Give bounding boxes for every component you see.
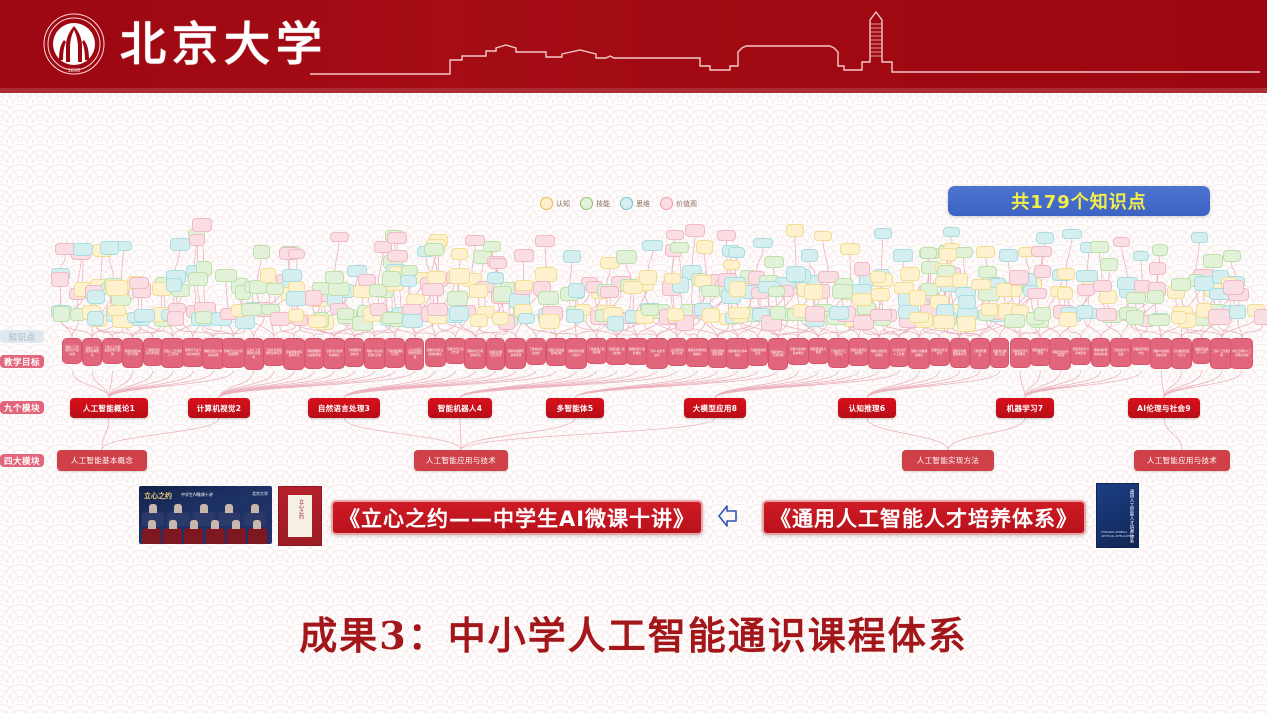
knowledge-point-node[interactable] bbox=[266, 283, 284, 295]
knowledge-point-node[interactable] bbox=[909, 290, 926, 306]
poster-logo: 北京大学 bbox=[252, 491, 268, 497]
module-box-6[interactable]: 大模型应用8 bbox=[684, 398, 746, 418]
knowledge-point-node[interactable] bbox=[1147, 290, 1164, 304]
teaching-goal-node[interactable]: 理解博弈论基本概念 bbox=[726, 338, 749, 369]
teaching-goal-node[interactable]: 了解提示词工程方法 bbox=[828, 338, 849, 368]
teaching-goal-node[interactable]: 理解智能机器人的定义 bbox=[565, 338, 587, 369]
knowledge-point-node[interactable] bbox=[87, 290, 105, 304]
knowledge-point-node[interactable] bbox=[1027, 288, 1047, 299]
knowledge-point-node[interactable] bbox=[935, 276, 953, 287]
knowledge-point-node[interactable] bbox=[51, 272, 69, 287]
legend-item-values: 价值观 bbox=[660, 197, 697, 210]
knowledge-point-node[interactable] bbox=[667, 308, 684, 321]
poster-person-face bbox=[169, 520, 177, 529]
legend-item-cognition: 认知 bbox=[540, 197, 570, 210]
knowledge-point-node[interactable] bbox=[253, 245, 270, 259]
knowledge-point-node[interactable] bbox=[801, 249, 818, 262]
knowledge-point-node[interactable] bbox=[465, 235, 485, 246]
lixin-zhiyue-group-photo-poster: 立心之约 中学生AI微课十讲 北京大学 bbox=[139, 486, 272, 544]
teaching-goal-node[interactable]: 了解群体智能算法 bbox=[747, 338, 768, 366]
legend-dot-thinking bbox=[620, 197, 633, 210]
knowledge-point-node[interactable] bbox=[325, 271, 344, 284]
knowledge-tree-diagram: 理解人工智能的定义和内涵掌握人工智能的基本概念了解人工智能发展历程与趋势理解智能… bbox=[0, 93, 1267, 493]
module-box-1[interactable]: 人工智能概论1 bbox=[70, 398, 148, 418]
knowledge-point-node[interactable] bbox=[1203, 254, 1223, 268]
knowledge-point-node[interactable] bbox=[1223, 280, 1244, 295]
knowledge-point-node[interactable] bbox=[288, 249, 305, 259]
slide-root: 1898 北京大学 理解人工智能的定义和内涵掌握人工智能的基本概念了解人工智能发… bbox=[0, 0, 1267, 713]
knowledge-point-node[interactable] bbox=[729, 281, 746, 297]
row-label-2: 九个模块 bbox=[0, 401, 44, 414]
teaching-goal-node[interactable]: 掌握大模型应用场景 bbox=[848, 338, 869, 366]
knowledge-point-node[interactable] bbox=[514, 249, 534, 262]
knowledge-point-node[interactable] bbox=[195, 311, 212, 324]
tongyong-ai-book-cover: 通用人工智能人才培养体系 TOWARDS GENERAL ARTIFICIAL … bbox=[1096, 483, 1139, 548]
category-legend: 认知 技能 思维 价值观 bbox=[540, 197, 697, 210]
knowledge-point-node[interactable] bbox=[999, 249, 1018, 262]
big-module-box-2[interactable]: 人工智能应用与技术 bbox=[414, 450, 508, 471]
teaching-goal-node[interactable]: 理解大模型的局限性 bbox=[868, 338, 890, 369]
knowledge-point-node[interactable] bbox=[451, 248, 468, 260]
knowledge-point-node[interactable] bbox=[483, 241, 501, 252]
knowledge-point-node[interactable] bbox=[270, 312, 290, 326]
teaching-goal-node[interactable]: 掌握强化学习基本思想 bbox=[1070, 338, 1091, 365]
book-title-left: 《立心之约——中学生AI微课十讲》 bbox=[331, 500, 703, 535]
knowledge-point-node[interactable] bbox=[768, 286, 785, 297]
knowledge-point-node[interactable] bbox=[535, 235, 555, 247]
campus-skyline-lineart bbox=[310, 6, 1260, 84]
knowledge-point-node[interactable] bbox=[1223, 250, 1241, 262]
knowledge-point-node[interactable] bbox=[539, 314, 560, 329]
knowledge-point-node[interactable] bbox=[933, 315, 955, 329]
knowledge-point-node[interactable] bbox=[717, 230, 736, 241]
knowledge-point-node[interactable] bbox=[909, 312, 929, 323]
teaching-goal-node[interactable]: 理解AI伦理的基本原则 bbox=[1150, 338, 1172, 369]
teaching-goal-node[interactable]: 掌握分词与词法分析 bbox=[445, 338, 466, 364]
knowledge-point-node[interactable] bbox=[568, 283, 585, 298]
poster-subtitle: 中学生AI微课十讲 bbox=[181, 492, 213, 498]
knowledge-point-node[interactable] bbox=[1126, 292, 1146, 304]
knowledge-point-node[interactable] bbox=[1191, 232, 1208, 243]
knowledge-point-node[interactable] bbox=[308, 315, 327, 328]
poster-person-face bbox=[225, 504, 233, 513]
knowledge-point-node[interactable] bbox=[996, 283, 1012, 297]
knowledge-point-node[interactable] bbox=[402, 314, 423, 328]
knowledge-point-node[interactable] bbox=[1057, 268, 1075, 280]
knowledge-point-node[interactable] bbox=[387, 232, 407, 244]
knowledge-point-node[interactable] bbox=[167, 311, 184, 326]
teaching-goal-node[interactable]: 理解预训练与微调 bbox=[808, 338, 829, 364]
teaching-goal-node[interactable]: 掌握大模型的基本概念 bbox=[787, 338, 809, 365]
knowledge-point-node[interactable] bbox=[664, 273, 681, 284]
teaching-goal-node[interactable]: 掌握智能体通信机制 bbox=[708, 338, 728, 368]
blue-book-subtitle: TOWARDS GENERAL ARTIFICIAL INTELLIGENCE bbox=[1101, 531, 1138, 539]
knowledge-point-node[interactable] bbox=[73, 243, 93, 256]
teaching-goal-node[interactable]: 认识数据隐私与安全 bbox=[1171, 338, 1192, 369]
knowledge-point-node[interactable] bbox=[670, 242, 689, 253]
teaching-goal-node[interactable]: 理解机器翻译基本原理 bbox=[505, 338, 526, 369]
book-title-left-text: 《立心之约——中学生AI微课十讲》 bbox=[339, 503, 695, 533]
knowledge-point-node[interactable] bbox=[600, 286, 619, 298]
teaching-goal-node[interactable]: 理解神经网络基本结构 bbox=[1091, 338, 1110, 367]
knowledge-point-node[interactable] bbox=[424, 243, 444, 256]
teaching-goal-node[interactable]: 掌握目标检测基本概念 bbox=[323, 338, 345, 369]
teaching-goal-node[interactable]: 理解认知推理的概念 bbox=[908, 338, 930, 369]
poster-person-face bbox=[211, 520, 219, 529]
knowledge-point-node[interactable] bbox=[786, 266, 806, 282]
knowledge-point-node[interactable] bbox=[1036, 232, 1054, 244]
teaching-goal-node[interactable]: 掌握机器人运动控制 bbox=[606, 338, 628, 365]
teaching-goal-node[interactable]: 了解人机交互技术 bbox=[646, 338, 668, 369]
big-module-box-1[interactable]: 人工智能基本概念 bbox=[57, 450, 147, 471]
module-box-9[interactable]: AI伦理与社会9 bbox=[1128, 398, 1200, 418]
legend-item-skill: 技能 bbox=[580, 197, 610, 210]
knowledge-point-node[interactable] bbox=[639, 270, 657, 285]
knowledge-point-node[interactable] bbox=[939, 248, 957, 261]
left-arrow-icon bbox=[716, 503, 744, 529]
knowledge-point-node[interactable] bbox=[535, 267, 557, 282]
knowledge-point-node[interactable] bbox=[400, 275, 417, 287]
knowledge-point-node[interactable] bbox=[1009, 270, 1029, 285]
poster-person-face bbox=[232, 520, 240, 529]
knowledge-point-node[interactable] bbox=[260, 268, 276, 283]
knowledge-point-node[interactable] bbox=[976, 246, 995, 258]
teaching-goal-node[interactable]: 树立正确的人工智能价值观 bbox=[1230, 338, 1253, 369]
knowledge-point-node[interactable] bbox=[701, 285, 720, 297]
legend-label-values: 价值观 bbox=[676, 199, 697, 209]
teaching-goal-node[interactable]: 理解逻辑推理基本方法 bbox=[950, 338, 970, 368]
knowledge-point-node[interactable] bbox=[764, 256, 784, 268]
teaching-goal-node[interactable]: 掌握词向量表示方法 bbox=[486, 338, 505, 370]
poster-person-face bbox=[148, 520, 156, 529]
knowledge-point-node[interactable] bbox=[666, 230, 684, 240]
knowledge-point-node[interactable] bbox=[189, 234, 205, 246]
knowledge-point-node[interactable] bbox=[893, 249, 913, 262]
poster-person-face bbox=[251, 504, 259, 513]
poster-person-body bbox=[227, 528, 246, 544]
knowledge-point-node[interactable] bbox=[685, 224, 705, 237]
knowledge-point-node[interactable] bbox=[958, 295, 976, 309]
legend-label-thinking: 思维 bbox=[636, 199, 650, 209]
knowledge-point-node[interactable] bbox=[1229, 305, 1246, 319]
knowledge-point-node[interactable] bbox=[518, 313, 535, 324]
row-label-1: 教学目标 bbox=[0, 355, 44, 368]
knowledge-point-node[interactable] bbox=[805, 306, 825, 322]
teaching-goal-node[interactable]: 理解监督学习原理 bbox=[1030, 338, 1051, 366]
big-module-box-3[interactable]: 人工智能实现方法 bbox=[902, 450, 994, 471]
knowledge-point-node[interactable] bbox=[955, 247, 973, 258]
knowledge-point-node[interactable] bbox=[978, 266, 997, 278]
knowledge-point-node[interactable] bbox=[1090, 241, 1109, 253]
knowledge-point-node[interactable] bbox=[1152, 244, 1168, 256]
knowledge-point-node[interactable] bbox=[215, 269, 237, 282]
knowledge-point-node[interactable] bbox=[188, 272, 208, 286]
knowledge-point-node[interactable] bbox=[337, 308, 354, 320]
knowledge-point-node[interactable] bbox=[107, 305, 126, 316]
book-title-right: 《通用人工智能人才培养体系》 bbox=[762, 500, 1086, 535]
knowledge-point-node[interactable] bbox=[952, 273, 968, 288]
knowledge-point-node[interactable] bbox=[492, 312, 509, 325]
knowledge-point-node[interactable] bbox=[870, 271, 886, 283]
poster-person-body bbox=[163, 528, 182, 544]
module-box-4[interactable]: 智能机器人4 bbox=[428, 398, 492, 418]
knowledge-point-node[interactable] bbox=[563, 250, 581, 263]
knowledge-point-node[interactable] bbox=[1113, 237, 1130, 247]
knowledge-point-node[interactable] bbox=[900, 267, 920, 281]
teaching-goal-node[interactable]: 理解多智能体系统概念 bbox=[686, 338, 709, 367]
count-badge-text: 共179个知识点 bbox=[1011, 188, 1147, 214]
module-box-5[interactable]: 多智能体5 bbox=[546, 398, 604, 418]
teaching-goal-node[interactable]: 理解无监督学习原理 bbox=[1049, 338, 1071, 370]
legend-dot-values bbox=[660, 197, 673, 210]
row-label-3: 四大模块 bbox=[0, 454, 44, 467]
teaching-goal-node[interactable]: 掌握图像处理基本方法 bbox=[283, 338, 305, 370]
knowledge-point-node[interactable] bbox=[1062, 229, 1082, 239]
book-cover-spine-text: 立心之约 bbox=[298, 499, 305, 519]
knowledge-point-node[interactable] bbox=[696, 240, 713, 254]
teaching-goal-node[interactable]: 掌握人工智能的基本概念 bbox=[82, 338, 102, 366]
knowledge-point-node[interactable] bbox=[1031, 246, 1052, 257]
knowledge-point-count-badge: 共179个知识点 bbox=[948, 186, 1210, 216]
knowledge-point-node[interactable] bbox=[106, 280, 128, 296]
knowledge-point-node[interactable] bbox=[328, 282, 350, 296]
knowledge-point-node[interactable] bbox=[487, 272, 504, 284]
teaching-goal-node[interactable]: 了解情感分析技术 bbox=[526, 338, 546, 365]
knowledge-point-node[interactable] bbox=[489, 258, 507, 269]
teaching-goal-node[interactable]: 理解算法偏见与公平 bbox=[1192, 338, 1211, 364]
knowledge-point-node[interactable] bbox=[840, 243, 860, 255]
knowledge-point-node[interactable] bbox=[702, 308, 720, 323]
knowledge-point-node[interactable] bbox=[616, 250, 637, 264]
knowledge-point-node[interactable] bbox=[449, 306, 469, 321]
slide-caption: 成果3：中小学人工智能通识课程体系 bbox=[0, 605, 1267, 660]
knowledge-point-node[interactable] bbox=[469, 284, 488, 298]
knowledge-point-node[interactable] bbox=[829, 306, 849, 320]
teaching-goal-node[interactable]: 认识人工智能的应用领域 bbox=[244, 338, 264, 370]
knowledge-point-node[interactable] bbox=[427, 303, 448, 316]
module-box-8[interactable]: 机器学习7 bbox=[996, 398, 1054, 418]
knowledge-point-node[interactable] bbox=[1171, 311, 1187, 324]
knowledge-point-node[interactable] bbox=[728, 307, 750, 319]
big-module-box-4[interactable]: 人工智能应用与技术 bbox=[1134, 450, 1230, 471]
teaching-goal-node[interactable]: 了解视频理解与分析 bbox=[384, 338, 405, 368]
teaching-goal-node[interactable]: 掌握对话系统基本结构 bbox=[546, 338, 567, 366]
teaching-goal-node[interactable]: 认识计算机视觉伦理问题 bbox=[405, 338, 424, 370]
teaching-goal-node[interactable]: 认识生成式人工智能 bbox=[889, 338, 909, 367]
knowledge-point-node[interactable] bbox=[538, 291, 559, 305]
knowledge-point-node[interactable] bbox=[382, 271, 401, 287]
knowledge-point-node[interactable] bbox=[470, 314, 488, 327]
knowledge-point-node[interactable] bbox=[100, 241, 119, 255]
knowledge-point-node[interactable] bbox=[957, 316, 976, 332]
knowledge-point-node[interactable] bbox=[87, 311, 104, 326]
poster-person-face bbox=[174, 504, 182, 513]
module-box-2[interactable]: 计算机视觉2 bbox=[188, 398, 250, 418]
teaching-goal-node[interactable]: 了解因果推理 bbox=[970, 338, 990, 369]
knowledge-point-node[interactable] bbox=[1126, 310, 1144, 325]
knowledge-point-node[interactable] bbox=[723, 260, 740, 270]
knowledge-point-node[interactable] bbox=[1148, 314, 1170, 326]
poster-person-body bbox=[142, 528, 161, 544]
knowledge-point-node[interactable] bbox=[288, 309, 304, 322]
slide-header: 1898 北京大学 bbox=[0, 0, 1267, 88]
knowledge-point-node[interactable] bbox=[1093, 280, 1112, 292]
knowledge-point-node[interactable] bbox=[971, 279, 991, 290]
legend-item-thinking: 思维 bbox=[620, 197, 650, 210]
teaching-goal-node[interactable]: 理解人脸识别原理与应用 bbox=[364, 338, 386, 369]
knowledge-point-node[interactable] bbox=[134, 309, 155, 322]
knowledge-point-node[interactable] bbox=[814, 231, 832, 241]
svg-text:1898: 1898 bbox=[68, 68, 81, 74]
teaching-goal-node[interactable]: 掌握知识表示方法 bbox=[929, 338, 950, 366]
knowledge-point-node[interactable] bbox=[566, 309, 584, 323]
knowledge-point-node[interactable] bbox=[943, 227, 960, 237]
teaching-goal-node[interactable]: 了解图灵测试与中文屋 bbox=[143, 338, 163, 366]
legend-label-cognition: 认知 bbox=[556, 199, 570, 209]
module-box-3[interactable]: 自然语言处理3 bbox=[308, 398, 380, 418]
knowledge-point-node[interactable] bbox=[192, 218, 212, 232]
knowledge-point-node[interactable] bbox=[330, 232, 349, 242]
knowledge-point-node[interactable] bbox=[753, 238, 773, 248]
knowledge-point-node[interactable] bbox=[832, 284, 853, 299]
teaching-goal-node[interactable]: 理解行为主义的基本思想 bbox=[222, 338, 245, 368]
knowledge-point-node[interactable] bbox=[874, 228, 892, 239]
teaching-goal-node[interactable]: 理解句法分析基本方法 bbox=[464, 338, 486, 369]
teaching-goal-node[interactable]: 掌握人工智能的三大流派 bbox=[161, 338, 184, 368]
teaching-goal-node[interactable]: 理解常识推理与认知 bbox=[990, 338, 1009, 368]
knowledge-point-node[interactable] bbox=[449, 268, 470, 284]
teaching-goal-node[interactable]: 理解机器人路径规划 bbox=[626, 338, 648, 365]
knowledge-point-node[interactable] bbox=[786, 224, 804, 237]
poster-person-body bbox=[248, 528, 267, 544]
knowledge-point-node[interactable] bbox=[1099, 290, 1117, 304]
pku-seal-logo: 1898 bbox=[42, 12, 106, 76]
teaching-goal-node[interactable]: 理解智能的本质与分类 bbox=[122, 338, 143, 368]
teaching-goal-node[interactable]: 了解计算机视觉的基本任务 bbox=[263, 338, 285, 366]
book-title-right-text: 《通用人工智能人才培养体系》 bbox=[770, 503, 1078, 533]
knowledge-point-node[interactable] bbox=[170, 238, 190, 251]
knowledge-point-node[interactable] bbox=[1034, 307, 1051, 321]
module-box-7[interactable]: 认知推理6 bbox=[838, 398, 896, 418]
knowledge-point-node[interactable] bbox=[1057, 287, 1073, 300]
legend-label-skill: 技能 bbox=[596, 199, 610, 209]
knowledge-point-node[interactable] bbox=[382, 312, 403, 324]
knowledge-point-node[interactable] bbox=[920, 247, 937, 259]
knowledge-point-node[interactable] bbox=[1208, 309, 1230, 325]
knowledge-point-node[interactable] bbox=[607, 316, 624, 331]
teaching-goal-node[interactable]: 理解人工智能的定义和内涵 bbox=[62, 338, 82, 364]
legend-dot-skill bbox=[580, 197, 593, 210]
legend-dot-cognition bbox=[540, 197, 553, 210]
knowledge-point-node[interactable] bbox=[854, 262, 870, 276]
teaching-goal-node[interactable]: 理解图像特征提取原理 bbox=[304, 338, 324, 369]
knowledge-point-node[interactable] bbox=[515, 280, 533, 291]
knowledge-point-node[interactable] bbox=[1059, 312, 1077, 327]
poster-person-face bbox=[149, 504, 157, 513]
poster-headline: 立心之约 bbox=[144, 491, 172, 501]
teaching-goal-node[interactable]: 理解自然语言处理的概念 bbox=[425, 338, 446, 367]
poster-person-face bbox=[200, 504, 208, 513]
knowledge-point-node[interactable] bbox=[422, 283, 444, 296]
knowledge-point-node[interactable] bbox=[447, 291, 468, 306]
knowledge-point-node[interactable] bbox=[871, 288, 890, 301]
knowledge-point-node[interactable] bbox=[241, 303, 262, 316]
knowledge-point-node[interactable] bbox=[804, 284, 823, 300]
knowledge-point-node[interactable] bbox=[1254, 309, 1267, 325]
knowledge-point-node[interactable] bbox=[129, 277, 149, 289]
knowledge-point-node[interactable] bbox=[1133, 251, 1149, 261]
lixin-zhiyue-book-cover: 立心之约 bbox=[278, 486, 322, 546]
knowledge-point-node[interactable] bbox=[852, 293, 872, 306]
teaching-goal-node[interactable]: 了解机器人感知系统 bbox=[586, 338, 607, 364]
teaching-goal-node[interactable]: 掌握机器学习基本概念 bbox=[1010, 338, 1031, 368]
knowledge-point-node[interactable] bbox=[1034, 265, 1051, 278]
knowledge-point-node[interactable] bbox=[305, 290, 322, 306]
knowledge-point-node[interactable] bbox=[1100, 258, 1118, 271]
teaching-goal-node[interactable]: 理解符号主义的基本思想 bbox=[182, 338, 204, 367]
knowledge-point-node[interactable] bbox=[642, 240, 663, 251]
university-name: 北京大学 bbox=[120, 14, 328, 74]
teaching-goal-node[interactable]: 掌握模型评估方法 bbox=[1130, 338, 1152, 365]
knowledge-point-node[interactable] bbox=[1096, 308, 1117, 321]
knowledge-point-node[interactable] bbox=[1076, 305, 1093, 319]
knowledge-point-node[interactable] bbox=[770, 306, 786, 320]
knowledge-point-node[interactable] bbox=[1171, 278, 1191, 291]
teaching-goal-node[interactable]: 了解图像分割技术 bbox=[344, 338, 364, 367]
knowledge-point-node[interactable] bbox=[981, 303, 998, 316]
poster-person-face bbox=[190, 520, 198, 529]
knowledge-point-node[interactable] bbox=[166, 278, 182, 292]
knowledge-point-node[interactable] bbox=[870, 309, 892, 321]
knowledge-point-node[interactable] bbox=[53, 306, 70, 322]
poster-person-body bbox=[206, 528, 225, 544]
knowledge-point-node[interactable] bbox=[282, 269, 302, 282]
knowledge-point-node[interactable] bbox=[728, 247, 745, 258]
teaching-goal-node[interactable]: 认识服务机器人应用 bbox=[667, 338, 687, 366]
knowledge-point-node[interactable] bbox=[641, 304, 659, 316]
knowledge-point-node[interactable] bbox=[1004, 314, 1025, 328]
teaching-goal-node[interactable]: 了解深度学习发展 bbox=[1110, 338, 1132, 367]
teaching-goal-node[interactable]: 了解人工智能发展历程与趋势 bbox=[102, 338, 123, 364]
knowledge-point-node[interactable] bbox=[1149, 262, 1166, 275]
poster-person-body bbox=[184, 528, 203, 544]
teaching-goal-node[interactable]: 理解协作与竞争机制 bbox=[768, 338, 788, 370]
row-label-0: 知识点 bbox=[0, 330, 44, 343]
poster-person-face bbox=[253, 520, 261, 529]
